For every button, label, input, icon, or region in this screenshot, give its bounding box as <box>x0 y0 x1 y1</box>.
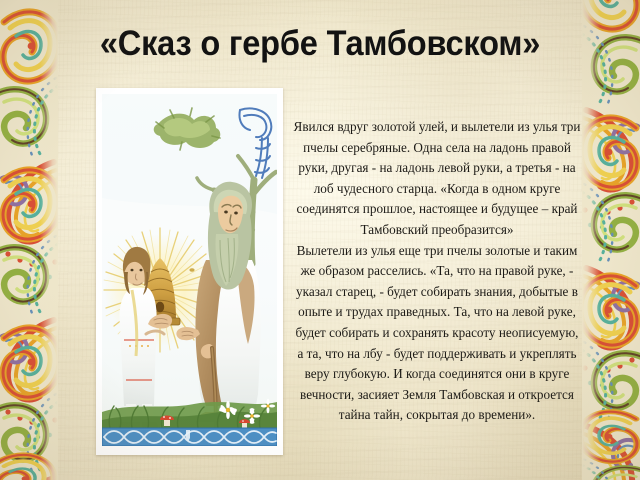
story-paragraph-2: Вылетели из улья еще три пчелы золотые и… <box>293 241 581 426</box>
ornament-band-right <box>582 0 640 480</box>
presentation-slide: «Сказ о гербе Тамбовском» <box>0 0 640 480</box>
story-text: Явился вдруг золотой улей, и вылетели из… <box>293 117 581 426</box>
page-title: «Сказ о гербе Тамбовском» <box>76 22 563 66</box>
illustration-frame <box>96 88 283 455</box>
ornament-band-left <box>0 0 58 480</box>
story-paragraph-1: Явился вдруг золотой улей, и вылетели из… <box>293 117 581 241</box>
illustration-image <box>102 94 277 446</box>
